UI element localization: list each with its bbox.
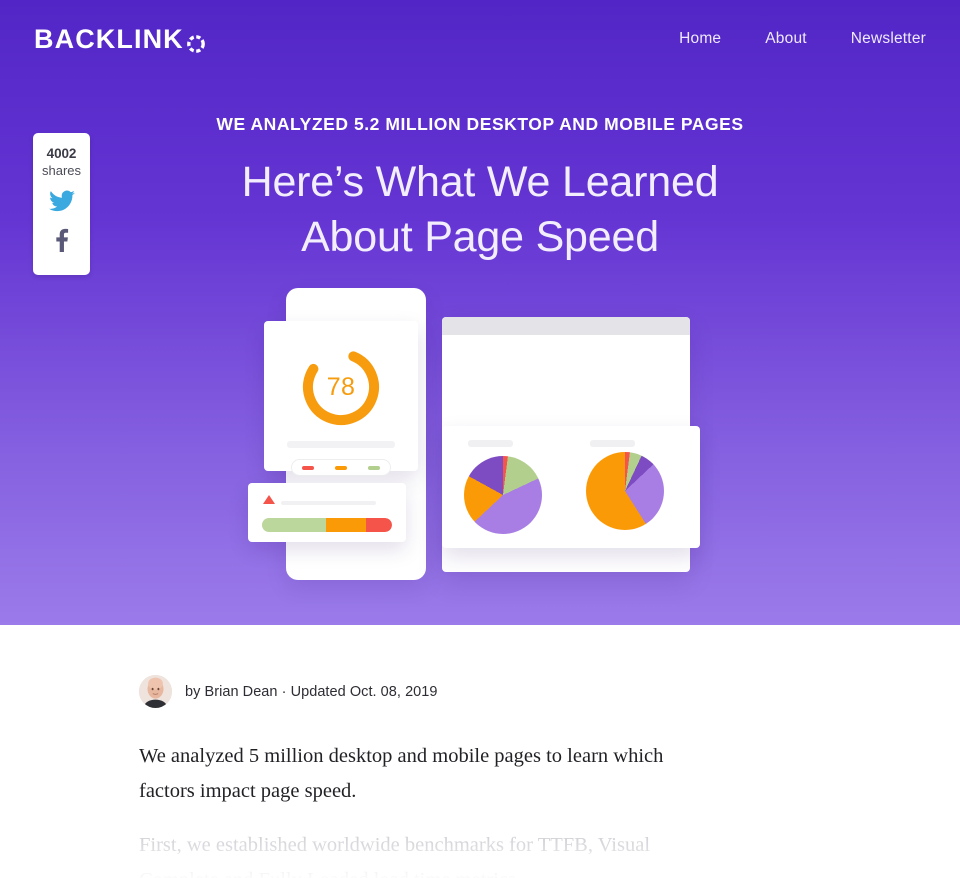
byline-text: by Brian Dean · Updated Oct. 08, 2019: [185, 684, 438, 700]
pie-chart-right: [586, 452, 664, 530]
title-line-1: Here’s What We Learned: [242, 158, 719, 206]
article-paragraph-1: We analyzed 5 million desktop and mobile…: [139, 739, 700, 810]
top-navigation: BACKLINK Home About Newsletter: [0, 0, 960, 78]
illustration-card-score: 78: [264, 321, 418, 471]
article-paragraph-2: First, we established worldwide benchmar…: [139, 828, 700, 878]
placeholder-line: [281, 501, 376, 505]
article-section: by Brian Dean · Updated Oct. 08, 2019 We…: [0, 625, 960, 878]
byline: by Brian Dean · Updated Oct. 08, 2019: [0, 625, 960, 708]
hero-eyebrow: WE ANALYZED 5.2 MILLION DESKTOP AND MOBI…: [0, 114, 960, 135]
score-legend-pill: [291, 459, 391, 476]
segment-green: [262, 518, 326, 532]
page-title: Here’s What We Learned About Page Speed: [0, 155, 960, 264]
nav-item-home[interactable]: Home: [679, 30, 721, 48]
nav-item-about[interactable]: About: [765, 30, 807, 48]
site-logo[interactable]: BACKLINK: [34, 24, 206, 55]
pie-chart-left: [464, 456, 542, 534]
legend-dash-green: [368, 466, 380, 470]
logo-wordmark: BACKLINK: [34, 24, 184, 55]
nav-links: Home About Newsletter: [679, 30, 926, 48]
legend-dash-orange: [335, 466, 347, 470]
nav-item-newsletter[interactable]: Newsletter: [851, 30, 926, 48]
article-body: We analyzed 5 million desktop and mobile…: [0, 739, 700, 878]
legend-dash-red: [302, 466, 314, 470]
author-avatar: [139, 675, 172, 708]
hero-illustration: 78: [248, 288, 712, 598]
pie-left-label: [468, 440, 513, 447]
score-gauge: 78: [295, 341, 387, 433]
segmented-progress-bar: [262, 518, 392, 532]
segment-orange: [326, 518, 366, 532]
triangle-up-icon: [263, 495, 275, 504]
dashed-circle-icon: [186, 30, 206, 50]
score-value: 78: [295, 341, 387, 433]
illustration-card-pies: [442, 426, 700, 548]
illustration-card-slider: [248, 483, 406, 542]
browser-title-bar: [442, 317, 690, 335]
pie-right-label: [590, 440, 635, 447]
segment-red: [366, 518, 392, 532]
score-placeholder-bar: [287, 441, 395, 448]
hero-section: BACKLINK Home About Newsletter 4002 shar…: [0, 0, 960, 625]
title-line-2: About Page Speed: [301, 213, 659, 261]
